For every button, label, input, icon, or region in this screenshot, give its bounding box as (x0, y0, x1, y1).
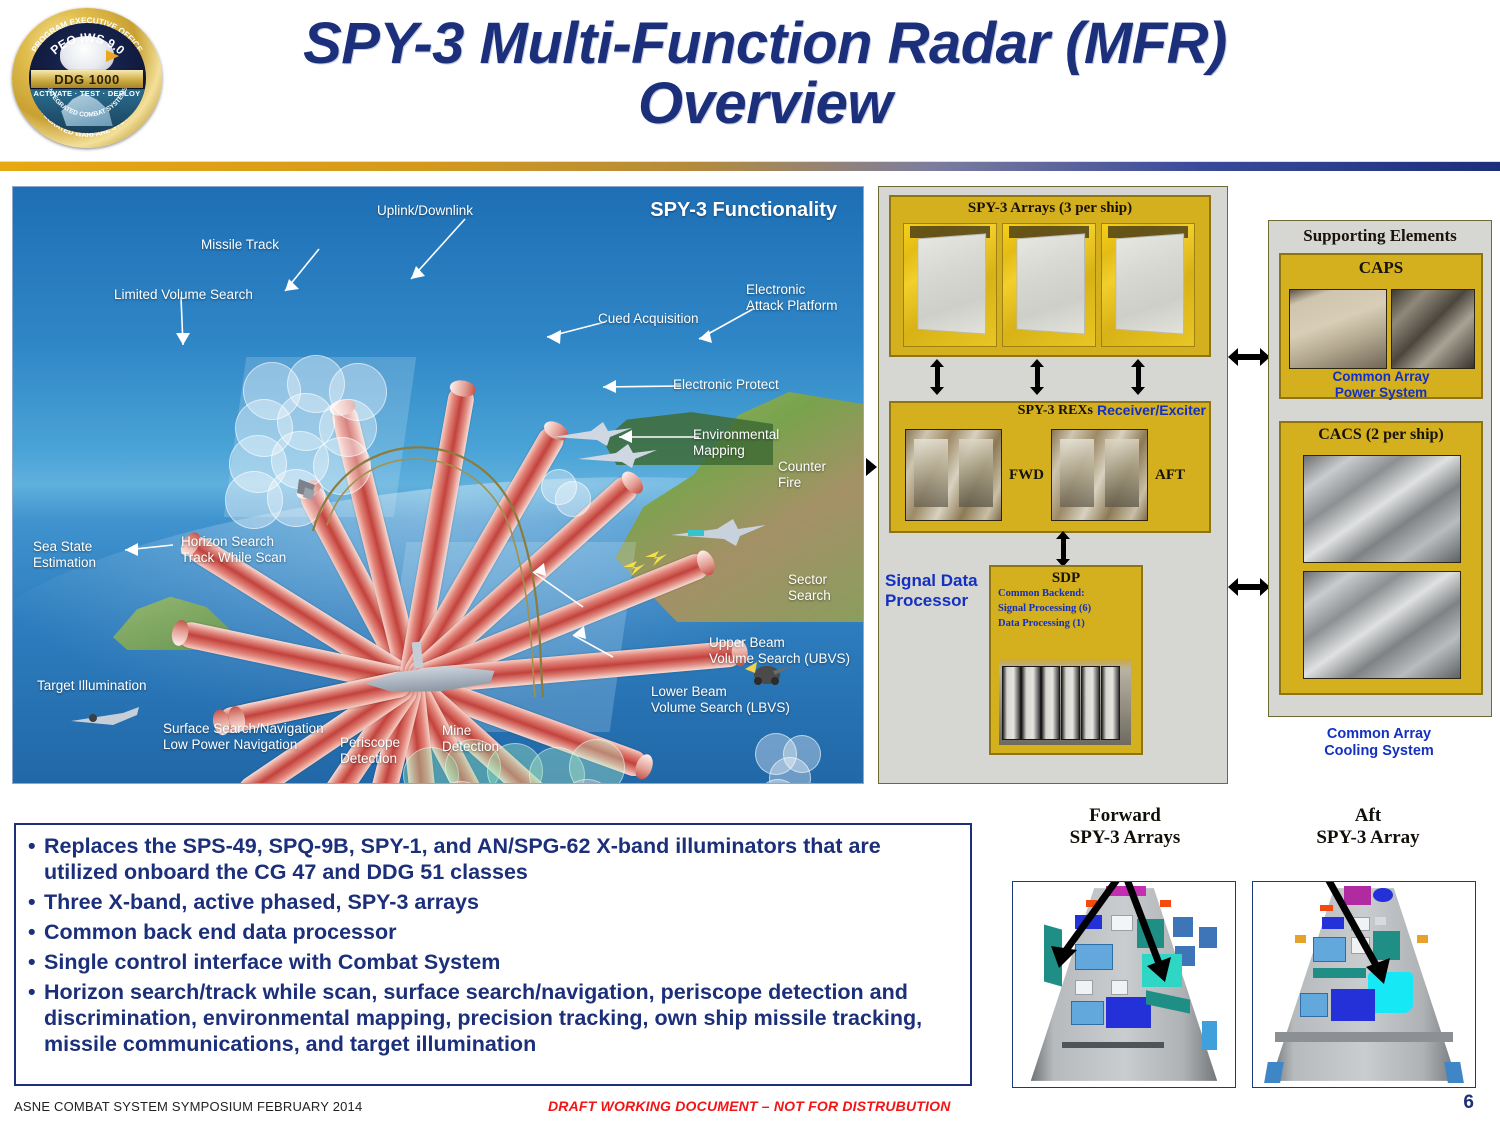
bullet-marker: • (28, 979, 44, 1057)
sdp-cabinets-photo (999, 659, 1131, 745)
arrays-box-title: SPY-3 Arrays (3 per ship) (891, 197, 1209, 217)
deck-panel-blue (1322, 917, 1344, 929)
cacs-box: CACS (2 per ship) (1279, 421, 1483, 695)
caps-interior-photo (1391, 289, 1475, 369)
list-item: • Replaces the SPS-49, SPQ-9B, SPY-1, an… (16, 831, 970, 887)
bullet-text: Common back end data processor (44, 919, 960, 945)
list-item: • Common back end data processor (16, 917, 970, 947)
label-ubvs: Upper Beam Volume Search (UBVS) (709, 635, 850, 667)
deck-marker-red (1160, 900, 1171, 906)
label-uplink-downlink: Uplink/Downlink (377, 203, 473, 219)
deck-seam (1275, 1032, 1453, 1042)
signal-data-processor-label: Signal Data Processor (885, 571, 985, 610)
seal-banner: DDG 1000 (31, 70, 143, 87)
bullet-text: Horizon search/track while scan, surface… (44, 979, 960, 1057)
page-title: SPY-3 Multi-Function Radar (MFR) Overvie… (170, 14, 1360, 135)
deck-panel-blue (1199, 927, 1217, 948)
spy3-rexs-box: FWD AFT (889, 401, 1211, 533)
bullet-marker: • (28, 833, 44, 885)
deck-panel-blue (1075, 915, 1102, 929)
sdp-line-1: Signal Processing (6) (991, 602, 1141, 617)
sdp-box: SDP Common Backend: Signal Processing (6… (989, 565, 1143, 755)
spy3-functionality-illustration: SPY-3 Functionality Uplink/Downlink Miss… (12, 186, 864, 784)
spy3-array-photo (903, 223, 997, 347)
spy3-arrays-box: SPY-3 Arrays (3 per ship) (889, 195, 1211, 357)
spy3-block-diagram: SPY-3 Arrays (3 per ship) FWD AFT SPY-3 … (878, 186, 1228, 784)
cacs-link-arrow (1228, 578, 1270, 596)
bullet-text: Three X-band, active phased, SPY-3 array… (44, 889, 960, 915)
list-item: • Single control interface with Combat S… (16, 947, 970, 977)
cf-line-1: Counter (778, 459, 826, 475)
sdp-label-line-2: Processor (885, 591, 985, 611)
sdp-label-line-1: Signal Data (885, 571, 985, 591)
caps-box: CAPS Common Array Power System (1279, 253, 1483, 399)
ubvs-line-2: Volume Search (UBVS) (709, 651, 850, 667)
mine-line-1: Mine (442, 723, 499, 739)
deck-panel-white (1375, 917, 1386, 925)
env-line-2: Mapping (693, 443, 779, 459)
rex-box-title: SPY-3 REXs (893, 403, 1093, 419)
ea-line-2: Attack Platform (746, 298, 838, 314)
cacs-title: CACS (2 per ship) (1281, 423, 1481, 444)
rex-box-subtitle: Receiver/Exciter (1097, 402, 1206, 418)
caps-link-arrow (1228, 348, 1270, 366)
array-rex-connector-arrow (1130, 359, 1146, 395)
label-counter-fire: Counter Fire (778, 459, 826, 491)
ss-line-2: Search (788, 588, 831, 604)
deck-panel-lightblue (1075, 944, 1113, 971)
deck-panel-blue (1173, 917, 1193, 938)
deck-panel-white (1111, 915, 1133, 931)
array-face (1016, 233, 1085, 334)
header-divider (0, 161, 1500, 171)
spy3-array-aft (1368, 972, 1412, 1013)
ss-line-1: Sector (788, 572, 831, 588)
deck-panel-white (1111, 980, 1129, 994)
lbvs-line-1: Lower Beam (651, 684, 790, 700)
caps-title: CAPS (1281, 255, 1481, 278)
peri-line-2: Detection (340, 751, 400, 767)
sea-line-2: Estimation (33, 555, 96, 571)
label-electronic-attack-platform: Electronic Attack Platform (746, 282, 838, 314)
svg-text:PEO IWS 9.0: PEO IWS 9.0 (47, 31, 127, 58)
label-electronic-protect: Electronic Protect (673, 377, 779, 393)
sdp-line-0: Common Backend: (991, 587, 1141, 602)
cacs-caption-line-1: Common Array (1268, 726, 1490, 743)
forward-arrays-caption: Forward SPY-3 Arrays (1000, 805, 1250, 849)
deck-panel-teal (1313, 968, 1366, 978)
caps-caption-line-2: Power System (1281, 385, 1481, 401)
seal-banner-label: DDG 1000 (54, 72, 119, 87)
deck-marker-red (1086, 900, 1097, 906)
deck-panel-white (1075, 980, 1093, 994)
bullet-text: Single control interface with Combat Sys… (44, 949, 960, 975)
aft-array-caption: Aft SPY-3 Array (1248, 805, 1488, 849)
cf-line-2: Fire (778, 475, 826, 491)
ubvs-line-1: Upper Beam (709, 635, 850, 651)
deck-panel-lightblue (1313, 937, 1346, 962)
label-surface-search: Surface Search/Navigation Low Power Navi… (163, 721, 324, 753)
functionality-title: SPY-3 Functionality (650, 199, 837, 222)
footer-left-text: ASNE COMBAT SYSTEM SYMPOSIUM FEBRUARY 20… (14, 1099, 362, 1114)
ea-line-1: Electronic (746, 282, 838, 298)
deck-panel-darkblue (1331, 989, 1375, 1022)
deck-panel-blue (1202, 1021, 1218, 1050)
lbvs-line-2: Volume Search (LBVS) (651, 700, 790, 716)
deck-panel-lightblue (1071, 1001, 1104, 1026)
seal-peo-iws-text: PEO IWS 9.0 (47, 31, 127, 58)
link-triangle-icon (866, 458, 877, 476)
array-rex-connector-arrow (929, 359, 945, 395)
rex-sdp-connector-arrow (1055, 531, 1071, 567)
deck-panel-darkblue (1106, 997, 1150, 1028)
label-mine-detection: Mine Detection (442, 723, 499, 755)
cacs-chiller-photo (1303, 455, 1461, 563)
rex-fwd-photo (905, 429, 1002, 521)
surf-line-2: Low Power Navigation (163, 737, 324, 753)
caps-cabinet-photo (1289, 289, 1387, 369)
seal-motto: ACTIVATE · TEST · DEPLOY (29, 89, 146, 98)
aft-deckhouse-view (1252, 881, 1476, 1088)
list-item: • Three X-band, active phased, SPY-3 arr… (16, 887, 970, 917)
deck-marker-amber (1295, 935, 1306, 943)
peri-line-1: Periscope (340, 735, 400, 751)
label-target-illumination: Target Illumination (37, 678, 147, 694)
bullet-text: Replaces the SPS-49, SPQ-9B, SPY-1, and … (44, 833, 960, 885)
deck-panel-white (1351, 937, 1371, 953)
slide-header: PROGRAM EXECUTIVE OFFICE INTEGRATED WARF… (0, 0, 1500, 170)
cacs-chiller-photo (1303, 571, 1461, 679)
peo-iws-seal-logo: PROGRAM EXECUTIVE OFFICE INTEGRATED WARF… (12, 8, 162, 148)
array-face (1115, 233, 1184, 334)
supporting-elements-title: Supporting Elements (1269, 221, 1491, 246)
supporting-elements-panel: Supporting Elements CAPS Common Array Po… (1268, 220, 1492, 717)
sdp-box-title: SDP (991, 567, 1141, 587)
cacs-caption: Common Array Cooling System (1268, 726, 1490, 761)
hull-panel-blue (1444, 1062, 1463, 1083)
label-sector-search: Sector Search (788, 572, 831, 604)
title-line-1: SPY-3 Multi-Function Radar (MFR) (170, 14, 1360, 74)
bullet-marker: • (28, 949, 44, 975)
fwd-caption-line-1: Forward (1000, 805, 1250, 827)
seal-inner-disc: PEO IWS 9.0 INTEGRATED COMBAT SYSTEMS DD… (29, 23, 146, 132)
sector-search-cell (783, 735, 821, 773)
label-missile-track: Missile Track (201, 237, 279, 253)
array-face (917, 233, 986, 334)
footer-draft-notice: DRAFT WORKING DOCUMENT – NOT FOR DISTRUB… (548, 1098, 951, 1114)
surf-line-1: Surface Search/Navigation (163, 721, 324, 737)
key-features-list: • Replaces the SPS-49, SPQ-9B, SPY-1, an… (14, 823, 972, 1086)
array-rex-connector-arrow (1029, 359, 1045, 395)
deck-seam (1062, 1042, 1164, 1048)
label-periscope-detection: Periscope Detection (340, 735, 400, 767)
forward-deckhouse-view (1012, 881, 1236, 1088)
deck-marker-amber (1417, 935, 1428, 943)
deck-marker-red (1320, 905, 1333, 911)
deck-panel-lightblue (1300, 993, 1329, 1018)
fwd-caption-line-2: SPY-3 Arrays (1000, 827, 1250, 849)
bullet-marker: • (28, 919, 44, 945)
mast-top (1344, 886, 1371, 904)
sdp-line-2: Data Processing (1) (991, 617, 1141, 632)
deck-panel-teal (1137, 919, 1164, 948)
ubvs-cell (475, 783, 531, 784)
deck-panel-teal (1373, 931, 1400, 960)
list-item: • Horizon search/track while scan, surfa… (16, 977, 970, 1059)
mine-line-2: Detection (442, 739, 499, 755)
bullet-marker: • (28, 889, 44, 915)
sea-line-1: Sea State (33, 539, 96, 555)
env-line-1: Environmental (693, 427, 779, 443)
rex-aft-label: AFT (1155, 467, 1185, 484)
caps-caption-line-1: Common Array (1281, 369, 1481, 385)
label-lbvs: Lower Beam Volume Search (LBVS) (651, 684, 790, 716)
aft-caption-line-2: SPY-3 Array (1248, 827, 1488, 849)
cacs-caption-line-2: Cooling System (1268, 743, 1490, 760)
spy3-array-forward-starboard (1142, 954, 1182, 987)
caps-caption: Common Array Power System (1281, 369, 1481, 400)
label-cued-acquisition: Cued Acquisition (598, 311, 699, 327)
hs-line-1: Horizon Search (181, 534, 286, 550)
label-horizon-search: Horizon Search Track While Scan (181, 534, 286, 566)
rex-fwd-label: FWD (1009, 467, 1044, 484)
deck-panel-white (1351, 917, 1371, 931)
label-environmental-mapping: Environmental Mapping (693, 427, 779, 459)
spy3-array-photo (1101, 223, 1195, 347)
mast-top (1106, 886, 1146, 896)
title-line-2: Overview (170, 74, 1360, 134)
hs-line-2: Track While Scan (181, 550, 286, 566)
page-number: 6 (1463, 1092, 1474, 1114)
rex-aft-photo (1051, 429, 1148, 521)
label-limited-volume-search: Limited Volume Search (114, 287, 253, 303)
uplink-downlink-arc (291, 405, 561, 705)
spy3-array-photo (1002, 223, 1096, 347)
spy3-array-forward-port (1044, 925, 1062, 987)
aft-caption-line-1: Aft (1248, 805, 1488, 827)
label-sea-state-estimation: Sea State Estimation (33, 539, 96, 571)
